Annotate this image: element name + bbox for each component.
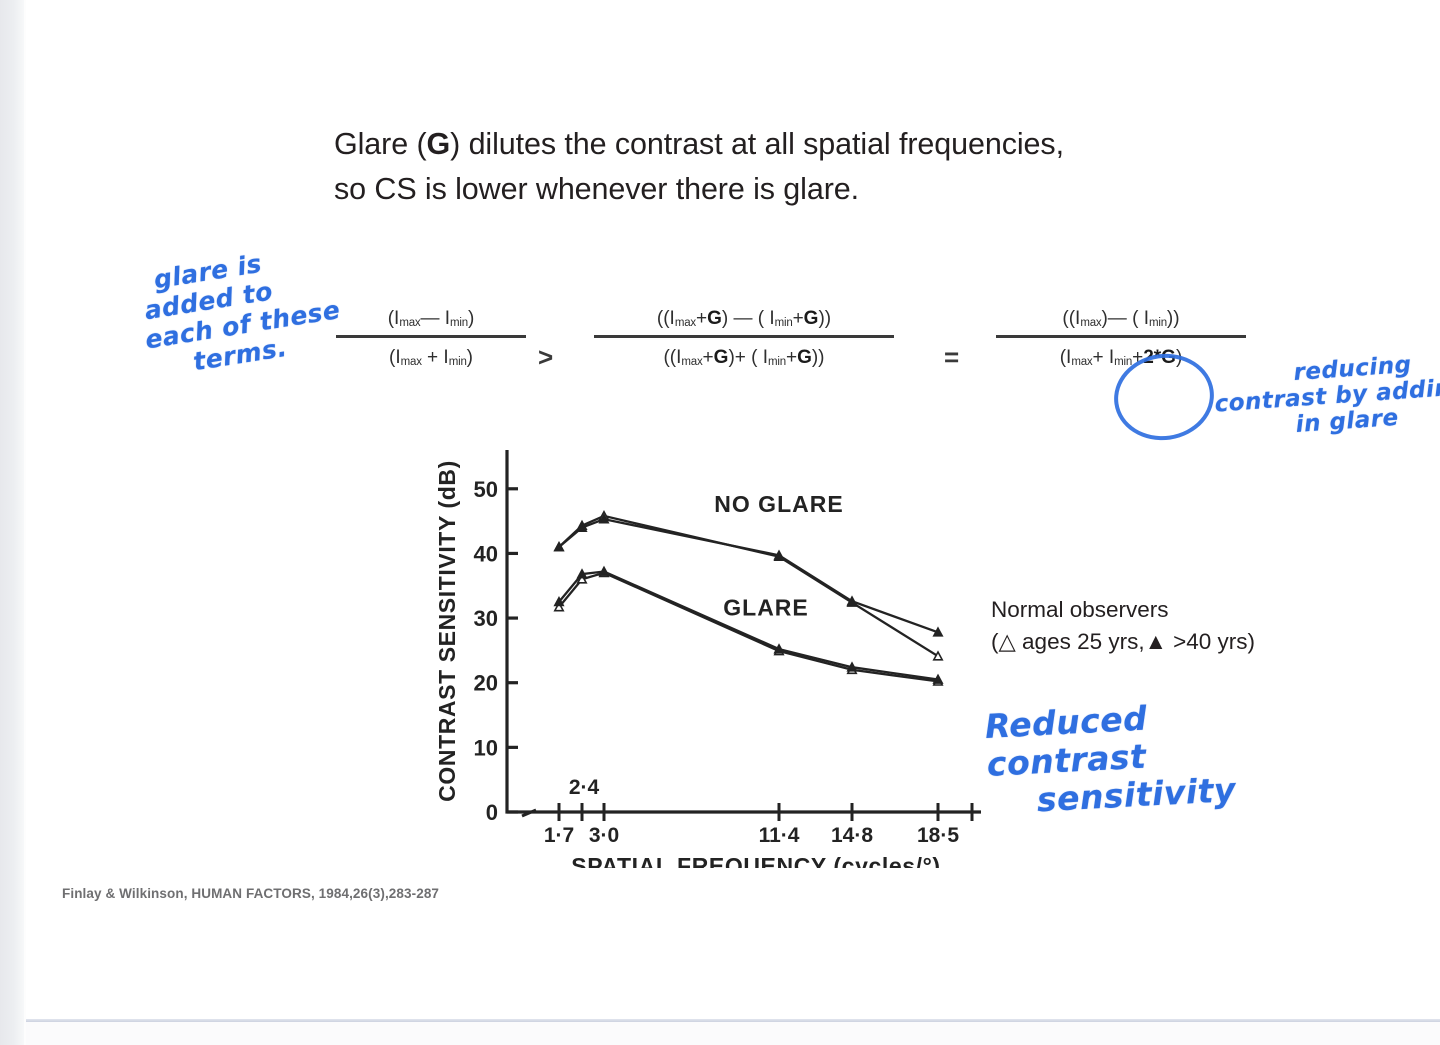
x-axis-tick-label: 14·8 (831, 824, 873, 847)
formula-fraction-2: ((Imax+G) — ( Imin+G)) ((Imax+G)+ ( Imin… (594, 308, 894, 369)
y-axis-tick-label: 10 (474, 735, 498, 760)
headline-line1-pre: Glare ( (334, 127, 427, 161)
x-axis-tick-label: 1·7 (544, 824, 574, 847)
page-footer-area (26, 1022, 1440, 1045)
left-gutter (0, 0, 24, 1045)
page-title: Glare (G) dilutes the contrast at all sp… (334, 122, 1294, 212)
annotation-bottom-handwriting: Reduced contrast sensitivity (984, 692, 1290, 822)
y-axis-tick-label: 40 (474, 541, 498, 566)
y-axis-title: CONTRAST SENSITIVITY (dB) (436, 460, 460, 802)
x-axis-tick-label: 3·0 (589, 824, 619, 847)
chart-data-point (934, 628, 942, 636)
legend-note-line1: Normal observers (991, 597, 1169, 622)
chart-series-line (559, 572, 938, 680)
chart-series-line (559, 573, 938, 682)
fraction-1-numerator: (Imax— Imin) (336, 308, 526, 334)
chart-data-point (848, 663, 856, 671)
operator-greater-than: > (538, 342, 553, 373)
chart-data-point (600, 567, 608, 575)
fraction-1-bar (336, 335, 526, 338)
citation: Finlay & Wilkinson, HUMAN FACTORS, 1984,… (62, 886, 439, 901)
legend-note-line2: (△ ages 25 yrs,▲ >40 yrs) (991, 629, 1255, 654)
fraction-3-bar (996, 335, 1246, 338)
x-axis-title: SPATIAL FREQUENCY (cycles/°) (571, 853, 940, 868)
x-axis-tick-label: 2·4 (569, 776, 600, 799)
slide-page: Glare (G) dilutes the contrast at all sp… (26, 0, 1440, 1019)
formula-fraction-3: ((Imax)— ( Imin)) (Imax+ Imin+2*G) (996, 308, 1246, 369)
operator-equals: = (944, 342, 959, 373)
headline-glare-symbol: G (427, 127, 451, 161)
chart-data-point (775, 551, 783, 559)
contrast-sensitivity-chart: 010203040501·72·43·011·414·818·5NO GLARE… (436, 438, 996, 868)
chart-data-point (775, 645, 783, 653)
chart-data-point (578, 570, 586, 578)
fraction-2-bar (594, 335, 894, 338)
chart-label-no-glare: NO GLARE (714, 491, 843, 517)
fraction-2-numerator: ((Imax+G) — ( Imin+G)) (594, 308, 894, 334)
legend-note: Normal observers (△ ages 25 yrs,▲ >40 yr… (991, 594, 1255, 658)
slide-viewer: Glare (G) dilutes the contrast at all sp… (0, 0, 1440, 1045)
y-axis-tick-label: 0 (486, 800, 498, 825)
headline-line1-post: ) dilutes the contrast at all spatial fr… (450, 127, 1064, 161)
chart-data-point (934, 675, 942, 683)
formula-fraction-1: (Imax— Imin) (Imax + Imin) (336, 308, 526, 369)
fraction-2-denominator: ((Imax+G)+ ( Imin+G)) (594, 343, 894, 369)
x-axis-tick-label: 11·4 (759, 824, 800, 847)
fraction-1-denominator: (Imax + Imin) (336, 343, 526, 369)
x-axis-tick-label: 18·5 (917, 824, 959, 847)
headline-line2: so CS is lower whenever there is glare. (334, 172, 859, 206)
chart-label-glare: GLARE (723, 595, 809, 621)
chart-svg: 010203040501·72·43·011·414·818·5NO GLARE… (436, 438, 996, 868)
y-axis-tick-label: 50 (474, 477, 498, 502)
y-axis-tick-label: 30 (474, 606, 498, 631)
y-axis-tick-label: 20 (474, 671, 498, 696)
fraction-3-numerator: ((Imax)— ( Imin)) (996, 308, 1246, 334)
